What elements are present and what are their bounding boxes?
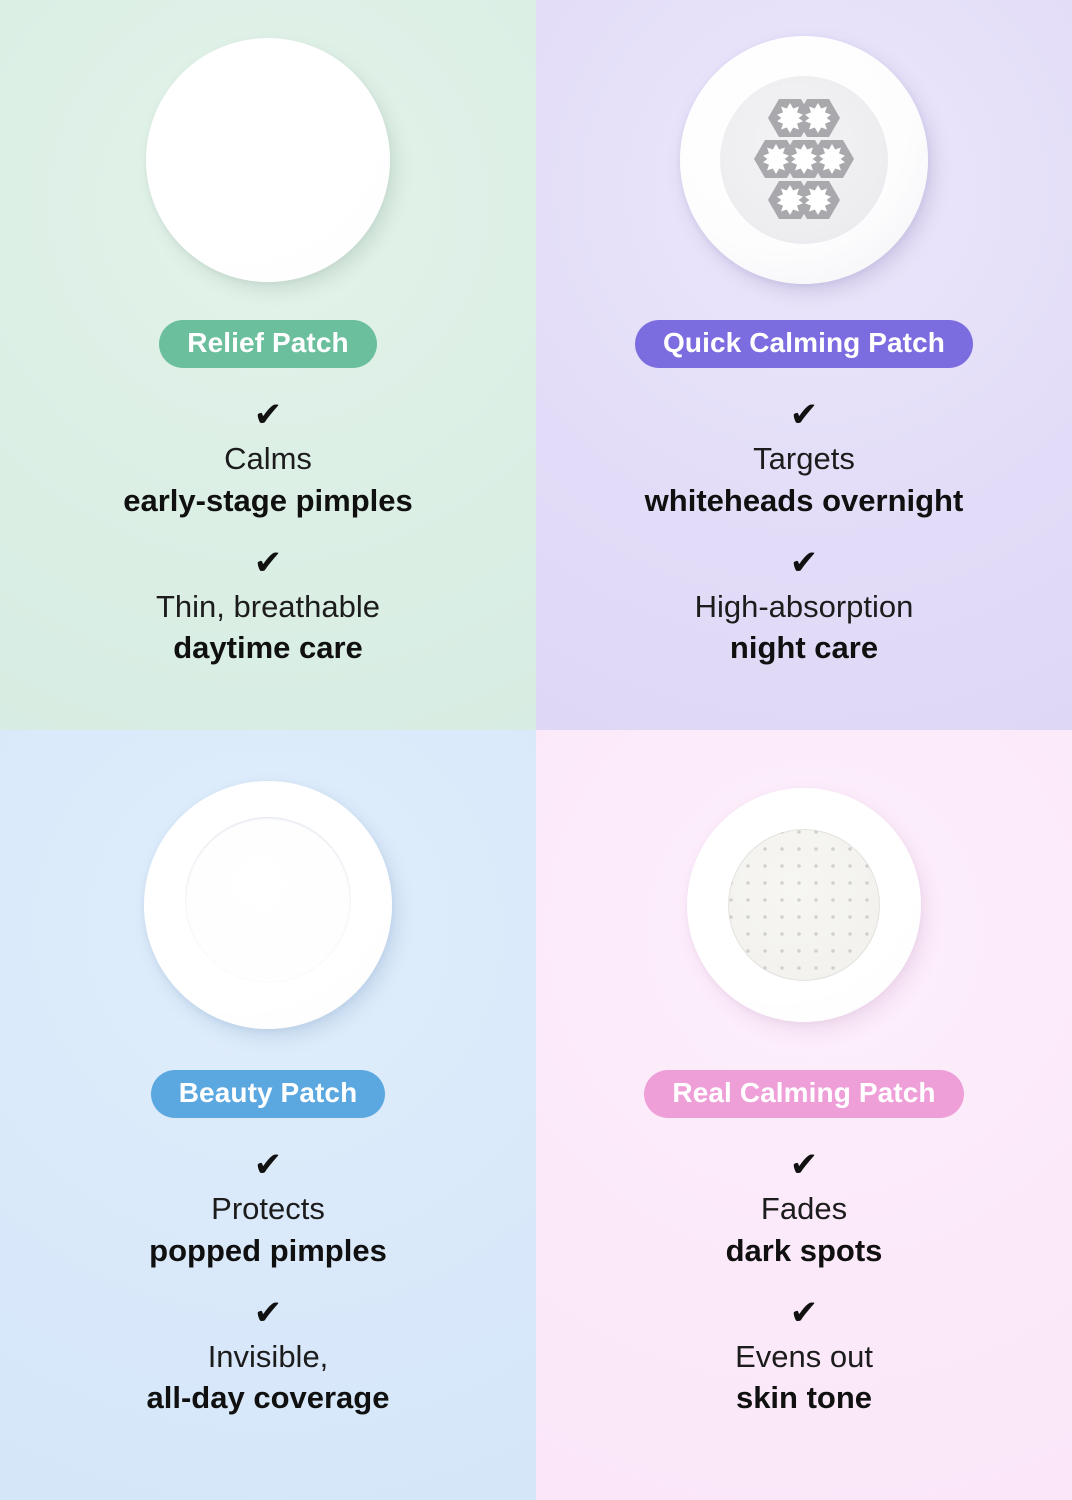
badge-relief-patch: Relief Patch <box>159 320 376 368</box>
product-image-beauty-patch <box>0 730 536 1070</box>
product-image-quick-calming-patch <box>536 0 1072 320</box>
check-icon: ✔ <box>254 1296 283 1330</box>
product-image-real-calming-patch <box>536 730 1072 1070</box>
feature-item: ✔ Invisible, all-day coverage <box>0 1296 536 1418</box>
feature-item: ✔ Fades dark spots <box>536 1148 1072 1270</box>
feature-line-bold: early-stage pimples <box>123 482 412 520</box>
feature-line-bold: all-day coverage <box>147 1379 390 1417</box>
feature-line-light: Targets <box>753 440 855 478</box>
feature-item: ✔ Calms early-stage pimples <box>0 398 536 520</box>
ridged-white-patch-icon <box>144 781 392 1029</box>
microneedle-dot-field <box>728 829 880 981</box>
feature-item: ✔ Protects popped pimples <box>0 1148 536 1270</box>
feature-line-light: Thin, breathable <box>156 588 380 626</box>
badge-beauty-patch: Beauty Patch <box>151 1070 386 1118</box>
feature-line-light: Protects <box>211 1190 325 1228</box>
badge-quick-calming-patch: Quick Calming Patch <box>635 320 973 368</box>
feature-list-real-calming-patch: ✔ Fades dark spots ✔ Evens out skin tone <box>536 1148 1072 1417</box>
quadrant-real-calming-patch: Real Calming Patch ✔ Fades dark spots ✔ … <box>536 730 1072 1500</box>
honeycomb-patch-icon <box>680 36 928 284</box>
feature-line-light: Invisible, <box>208 1338 329 1376</box>
honeycomb-inner-disc <box>720 76 888 244</box>
product-image-relief-patch <box>0 0 536 320</box>
feature-line-bold: popped pimples <box>149 1232 387 1270</box>
feature-line-light: Calms <box>224 440 312 478</box>
feature-list-beauty-patch: ✔ Protects popped pimples ✔ Invisible, a… <box>0 1148 536 1417</box>
feature-line-light: Fades <box>761 1190 847 1228</box>
quadrant-relief-patch: Relief Patch ✔ Calms early-stage pimples… <box>0 0 536 730</box>
feature-item: ✔ Evens out skin tone <box>536 1296 1072 1418</box>
feature-item: ✔ Thin, breathable daytime care <box>0 546 536 668</box>
microneedle-dotted-patch-icon <box>687 788 921 1022</box>
feature-line-bold: whiteheads overnight <box>645 482 964 520</box>
quadrant-quick-calming-patch: Quick Calming Patch ✔ Targets whiteheads… <box>536 0 1072 730</box>
feature-line-bold: night care <box>730 629 878 667</box>
feature-line-bold: dark spots <box>726 1232 883 1270</box>
badge-real-calming-patch: Real Calming Patch <box>644 1070 963 1118</box>
check-icon: ✔ <box>790 1148 819 1182</box>
plain-white-patch-icon <box>146 38 390 282</box>
check-icon: ✔ <box>254 398 283 432</box>
check-icon: ✔ <box>254 1148 283 1182</box>
honeycomb-cells-icon <box>739 97 869 223</box>
check-icon: ✔ <box>790 546 819 580</box>
feature-list-quick-calming-patch: ✔ Targets whiteheads overnight ✔ High-ab… <box>536 398 1072 667</box>
feature-line-bold: daytime care <box>173 629 363 667</box>
check-icon: ✔ <box>790 398 819 432</box>
feature-line-light: High-absorption <box>695 588 914 626</box>
feature-line-bold: skin tone <box>736 1379 872 1417</box>
feature-list-relief-patch: ✔ Calms early-stage pimples ✔ Thin, brea… <box>0 398 536 667</box>
patch-comparison-grid: Relief Patch ✔ Calms early-stage pimples… <box>0 0 1072 1500</box>
feature-item: ✔ Targets whiteheads overnight <box>536 398 1072 520</box>
feature-item: ✔ High-absorption night care <box>536 546 1072 668</box>
check-icon: ✔ <box>790 1296 819 1330</box>
feature-line-light: Evens out <box>735 1338 873 1376</box>
quadrant-beauty-patch: Beauty Patch ✔ Protects popped pimples ✔… <box>0 730 536 1500</box>
check-icon: ✔ <box>254 546 283 580</box>
